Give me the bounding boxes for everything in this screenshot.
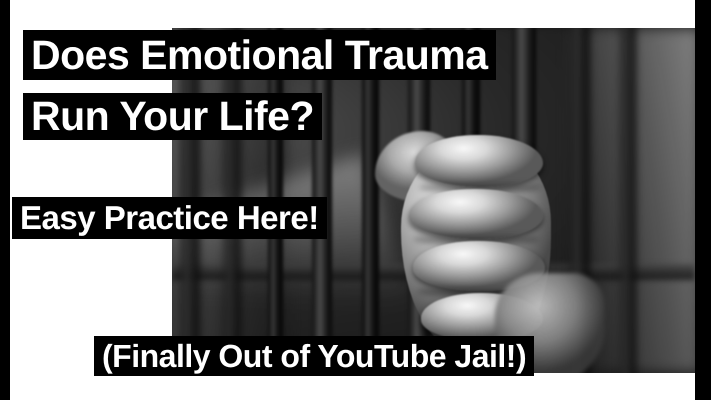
frame-right-border [695, 0, 711, 400]
thumbnail-canvas: Does Emotional Trauma Run Your Life? Eas… [0, 0, 711, 400]
footer-text: (Finally Out of YouTube Jail!) [102, 338, 526, 375]
hand-knuckle [409, 189, 543, 239]
headline-line-2: Run Your Life? [23, 93, 322, 140]
headline-separator-strip [23, 80, 166, 92]
headline-line-2-text: Run Your Life? [31, 93, 314, 140]
frame-left-border [0, 0, 10, 400]
cell-bar-vertical [620, 28, 636, 373]
headline-line-1: Does Emotional Trauma [23, 30, 496, 80]
callout-text: Easy Practice Here! [20, 199, 319, 237]
callout-band: Easy Practice Here! [12, 197, 327, 239]
headline-line-1-text: Does Emotional Trauma [31, 32, 488, 79]
footer-band: (Finally Out of YouTube Jail!) [94, 336, 534, 376]
hand-knuckle [415, 135, 543, 187]
